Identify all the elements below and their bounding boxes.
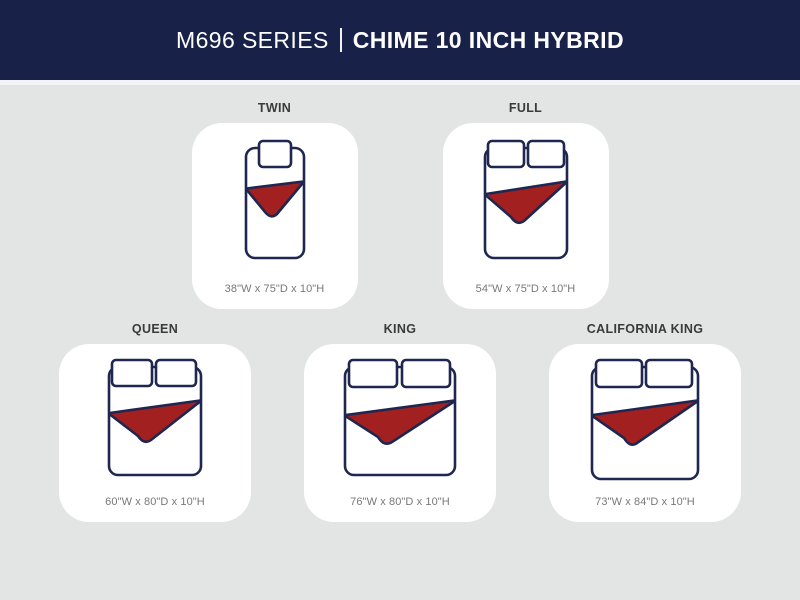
dimension-text: 38"W x 75"D x 10"H bbox=[225, 283, 325, 295]
size-card[interactable]: 60"W x 80"D x 10"H bbox=[59, 344, 251, 522]
size-card[interactable]: 76"W x 80"D x 10"H bbox=[304, 344, 496, 522]
size-label: FULL bbox=[509, 101, 542, 115]
size-card[interactable]: 73"W x 84"D x 10"H bbox=[549, 344, 741, 522]
size-block-king[interactable]: KING 76"W x 80"D x 10"H bbox=[304, 322, 496, 522]
title-series: M696 SERIES bbox=[176, 27, 329, 54]
page-header: M696 SERIES CHIME 10 INCH HYBRID bbox=[0, 0, 800, 80]
dimension-text: 60"W x 80"D x 10"H bbox=[105, 496, 205, 508]
bottom-row: QUEEN 60"W x 80"D x 10"H KING bbox=[0, 309, 800, 522]
size-block-twin[interactable]: TWIN 38"W x 75"D x 10"H bbox=[192, 101, 358, 309]
page-title: M696 SERIES CHIME 10 INCH HYBRID bbox=[176, 27, 624, 54]
size-block-california-king[interactable]: CALIFORNIA KING 73"W x 84"D x 10"H bbox=[549, 322, 741, 522]
bed-illustration-twin bbox=[233, 139, 317, 261]
bed-illustration-california-king bbox=[579, 358, 711, 482]
title-model: CHIME 10 INCH HYBRID bbox=[353, 27, 624, 54]
bed-illustration-queen bbox=[96, 358, 214, 478]
size-label: CALIFORNIA KING bbox=[587, 322, 704, 336]
size-chart: TWIN 38"W x 75"D x 10"H FULL bbox=[0, 85, 800, 522]
title-divider-icon bbox=[340, 28, 342, 52]
size-label: TWIN bbox=[258, 101, 291, 115]
size-card[interactable]: 54"W x 75"D x 10"H bbox=[443, 123, 609, 309]
size-block-queen[interactable]: QUEEN 60"W x 80"D x 10"H bbox=[59, 322, 251, 522]
bed-illustration-king bbox=[332, 358, 468, 478]
size-label: KING bbox=[384, 322, 417, 336]
dimension-text: 76"W x 80"D x 10"H bbox=[350, 496, 450, 508]
top-row: TWIN 38"W x 75"D x 10"H FULL bbox=[0, 85, 800, 309]
size-block-full[interactable]: FULL 54"W x 75"D x 10"H bbox=[443, 101, 609, 309]
bed-illustration-full bbox=[472, 139, 580, 261]
size-label: QUEEN bbox=[132, 322, 178, 336]
dimension-text: 54"W x 75"D x 10"H bbox=[476, 283, 576, 295]
dimension-text: 73"W x 84"D x 10"H bbox=[595, 496, 695, 508]
size-card[interactable]: 38"W x 75"D x 10"H bbox=[192, 123, 358, 309]
